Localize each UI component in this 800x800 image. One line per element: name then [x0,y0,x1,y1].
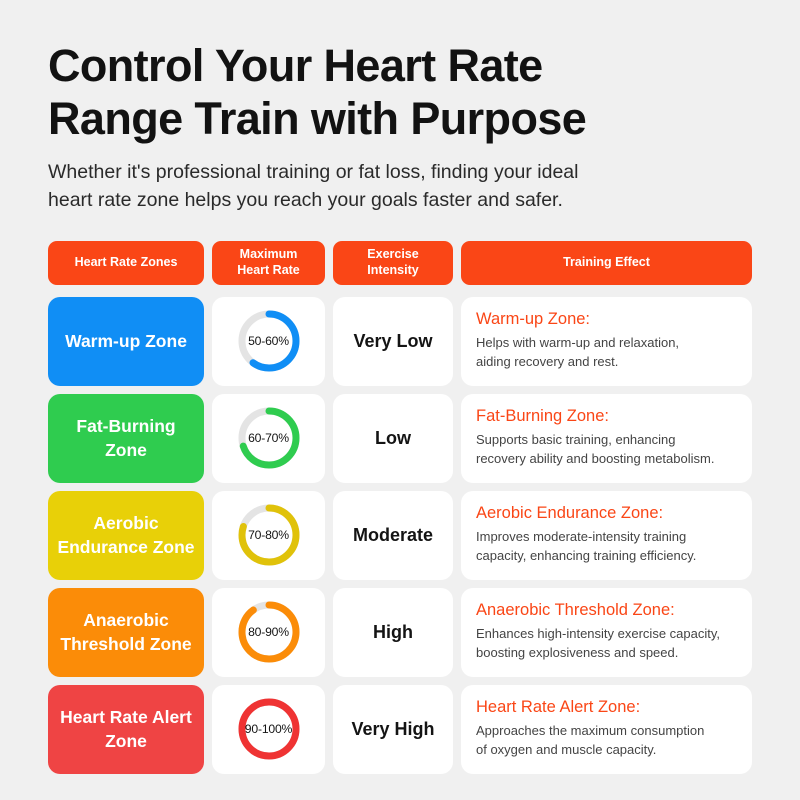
ring-percent-label: 60-70% [248,431,289,445]
exercise-intensity-cell: Moderate [333,491,453,580]
max-heart-rate-cell: 90-100% [212,685,325,774]
effect-title: Fat-Burning Zone: [476,407,737,427]
exercise-intensity-cell: Very Low [333,297,453,386]
effect-description: Approaches the maximum consumption of ox… [476,722,737,759]
headline-line-1: Control Your Heart Rate [48,40,752,93]
effect-desc-line-1: Enhances high-intensity exercise capacit… [476,625,737,643]
ring-percent-label: 80-90% [248,625,289,639]
table-row: Anaerobic Threshold Zone 80-90% High Ana… [48,588,752,677]
max-heart-rate-cell: 50-60% [212,297,325,386]
table-header-row: Heart Rate Zones Maximum Heart Rate Exer… [48,241,752,285]
table-row: Aerobic Endurance Zone 70-80% Moderate A… [48,491,752,580]
max-heart-rate-cell: 70-80% [212,491,325,580]
effect-description: Improves moderate-intensity training cap… [476,528,737,565]
zone-label-line-2: Zone [105,440,147,460]
effect-desc-line-1: Approaches the maximum consumption [476,722,737,740]
donut-ring-chart: 50-60% [235,307,303,375]
exercise-intensity-cell: High [333,588,453,677]
page-title: Control Your Heart Rate Range Train with… [48,40,752,145]
training-effect-cell: Aerobic Endurance Zone: Improves moderat… [461,491,752,580]
training-effect-cell: Heart Rate Alert Zone: Approaches the ma… [461,685,752,774]
max-heart-rate-cell: 60-70% [212,394,325,483]
effect-desc-line-2: boosting explosiveness and speed. [476,644,737,662]
subtitle-line-2: heart rate zone helps you reach your goa… [48,187,752,215]
subtitle-line-1: Whether it's professional training or fa… [48,159,752,187]
effect-desc-line-2: aiding recovery and rest. [476,353,737,371]
zone-label-line-1: Fat-Burning [76,416,175,436]
zone-label-line-1: Aerobic [93,513,158,533]
column-header-line-1: Heart Rate Zones [75,255,178,270]
effect-description: Supports basic training, enhancing recov… [476,431,737,468]
training-effect-cell: Anaerobic Threshold Zone: Enhances high-… [461,588,752,677]
effect-desc-line-2: capacity, enhancing training efficiency. [476,547,737,565]
column-header-line-1: Training Effect [563,255,650,270]
column-header-line-2: Heart Rate [237,263,300,278]
donut-ring-chart: 80-90% [235,598,303,666]
column-header-exercise-intensity: Exercise Intensity [333,241,453,285]
zone-badge: Anaerobic Threshold Zone [48,588,204,677]
zone-badge: Warm-up Zone [48,297,204,386]
effect-description: Enhances high-intensity exercise capacit… [476,625,737,662]
effect-description: Helps with warm-up and relaxation, aidin… [476,334,737,371]
effect-title: Warm-up Zone: [476,310,737,330]
column-header-line-1: Exercise [367,247,418,262]
table-row: Fat-Burning Zone 60-70% Low Fat-Burning … [48,394,752,483]
column-header-training-effect: Training Effect [461,241,752,285]
training-effect-cell: Warm-up Zone: Helps with warm-up and rel… [461,297,752,386]
column-header-maximum-heart-rate: Maximum Heart Rate [212,241,325,285]
effect-title: Aerobic Endurance Zone: [476,504,737,524]
zone-badge: Heart Rate Alert Zone [48,685,204,774]
heart-rate-zone-table: Heart Rate Zones Maximum Heart Rate Exer… [48,241,752,774]
page-subtitle: Whether it's professional training or fa… [48,159,752,214]
effect-desc-line-1: Helps with warm-up and relaxation, [476,334,737,352]
donut-ring-chart: 90-100% [235,695,303,763]
zone-label-line-1: Warm-up Zone [65,331,187,351]
zone-badge: Fat-Burning Zone [48,394,204,483]
donut-ring-chart: 60-70% [235,404,303,472]
zone-label-line-2: Threshold Zone [60,634,191,654]
effect-desc-line-2: recovery ability and boosting metabolism… [476,450,737,468]
zone-badge: Aerobic Endurance Zone [48,491,204,580]
column-header-heart-rate-zones: Heart Rate Zones [48,241,204,285]
zone-label-line-1: Heart Rate [60,707,148,727]
column-header-line-2: Intensity [367,263,418,278]
zone-label-line-1: Anaerobic [83,610,169,630]
table-row: Heart Rate Alert Zone 90-100% Very High … [48,685,752,774]
effect-title: Heart Rate Alert Zone: [476,698,737,718]
headline-line-2: Range Train with Purpose [48,93,752,146]
effect-desc-line-1: Supports basic training, enhancing [476,431,737,449]
exercise-intensity-cell: Low [333,394,453,483]
infographic-page: Control Your Heart Rate Range Train with… [0,0,800,800]
zone-label-line-2: Endurance Zone [57,537,194,557]
max-heart-rate-cell: 80-90% [212,588,325,677]
donut-ring-chart: 70-80% [235,501,303,569]
ring-percent-label: 70-80% [248,528,289,542]
column-header-line-1: Maximum [237,247,300,262]
table-row: Warm-up Zone 50-60% Very Low Warm-up Zon… [48,297,752,386]
effect-title: Anaerobic Threshold Zone: [476,601,737,621]
ring-percent-label: 50-60% [248,334,289,348]
training-effect-cell: Fat-Burning Zone: Supports basic trainin… [461,394,752,483]
ring-percent-label: 90-100% [245,722,292,736]
effect-desc-line-1: Improves moderate-intensity training [476,528,737,546]
effect-desc-line-2: of oxygen and muscle capacity. [476,741,737,759]
exercise-intensity-cell: Very High [333,685,453,774]
